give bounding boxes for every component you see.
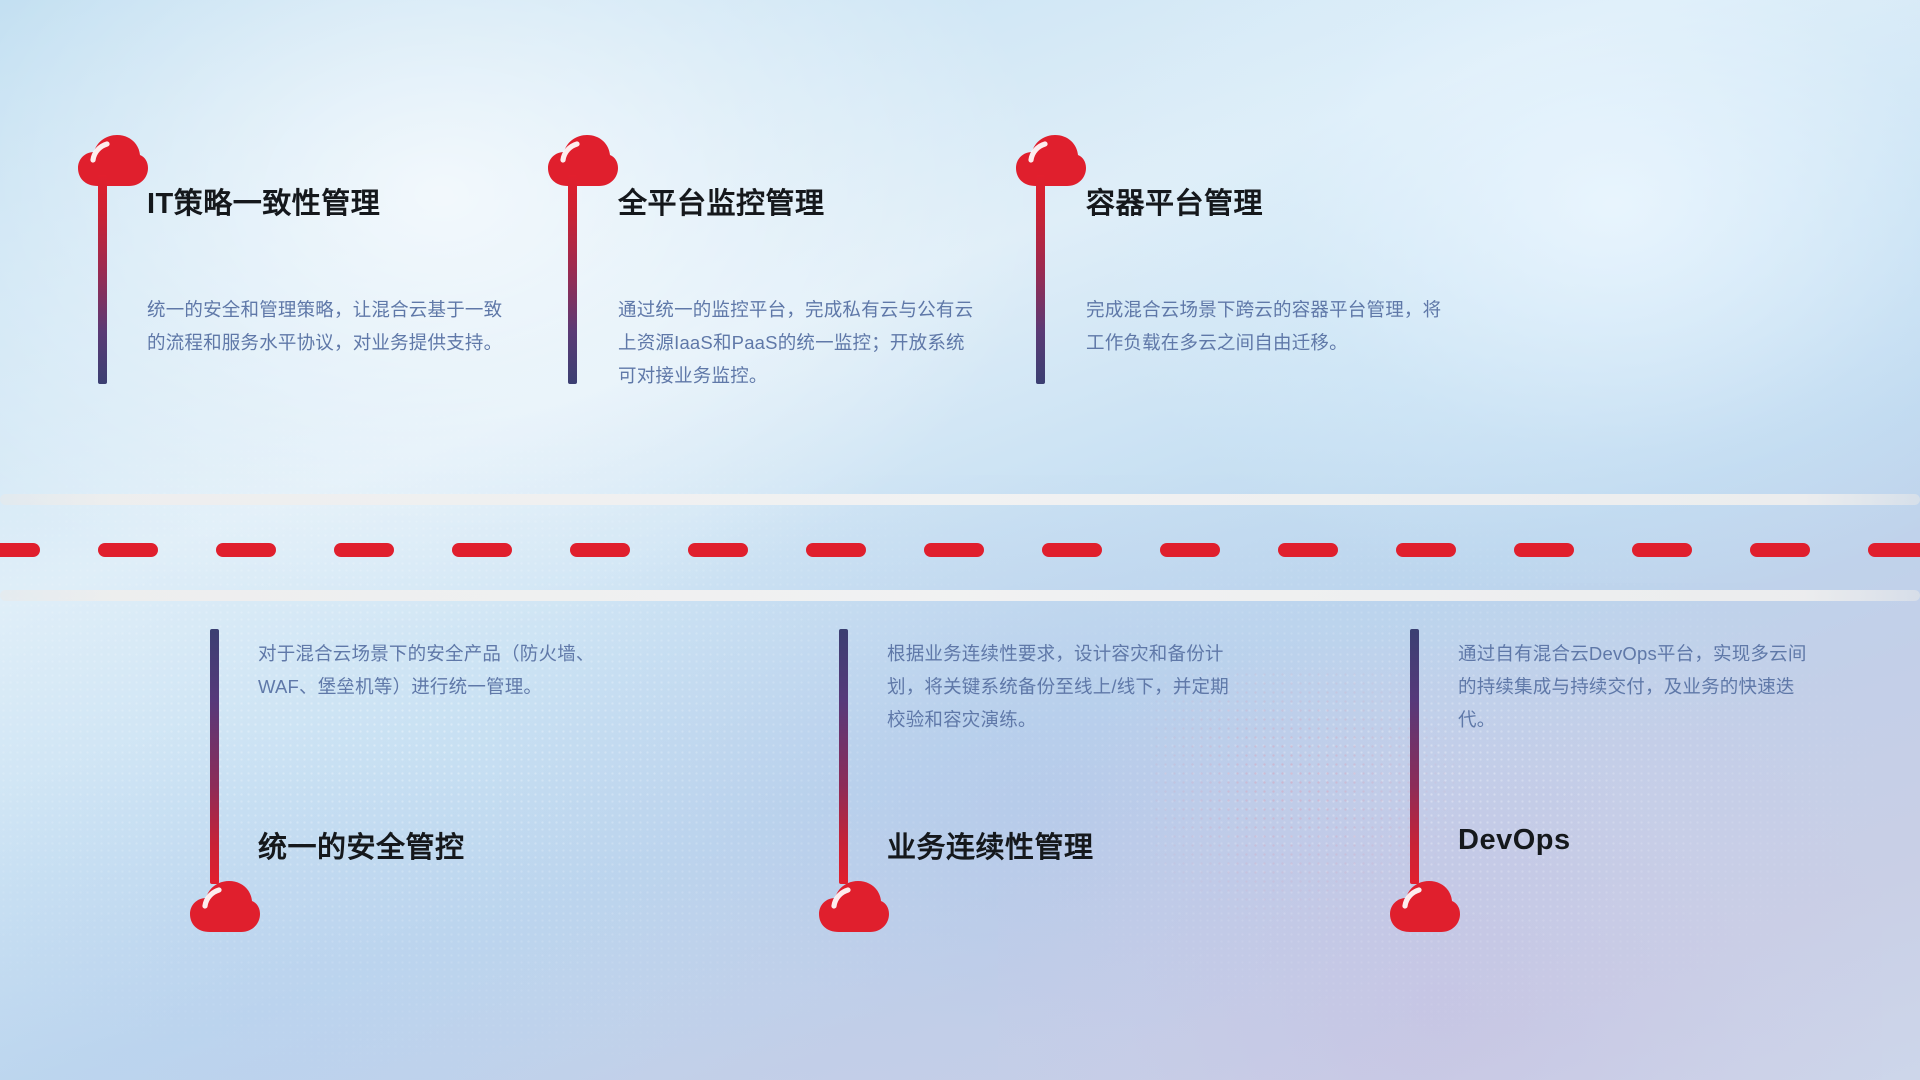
cloud-icon [1388,879,1462,935]
road-dash-segment [216,543,276,557]
road-dash-segment [806,543,866,557]
cloud-icon [817,879,891,935]
road-dash-segment [688,543,748,557]
pin-stem [1410,629,1419,884]
background-bokeh-dots [0,0,1920,1080]
road-dash-segment [1396,543,1456,557]
pin-stem [98,175,107,384]
pin-description: 根据业务连续性要求，设计容灾和备份计划，将关键系统备份至线上/线下，并定期校验和… [887,637,1247,736]
road-dash-segment [1632,543,1692,557]
road-dash-segment [570,543,630,557]
pin-description: 统一的安全和管理策略，让混合云基于一致的流程和服务水平协议，对业务提供支持。 [147,293,507,359]
cloud-icon [1014,133,1088,189]
pin-description: 对于混合云场景下的安全产品（防火墙、WAF、堡垒机等）进行统一管理。 [258,637,618,703]
cloud-icon [546,133,620,189]
pin-description: 完成混合云场景下跨云的容器平台管理，将工作负载在多云之间自由迁移。 [1086,293,1446,359]
road-edge-bottom-line [0,590,1920,601]
infographic-canvas: IT策略一致性管理 统一的安全和管理策略，让混合云基于一致的流程和服务水平协议，… [0,0,1920,1080]
pin-title: 容器平台管理 [1086,180,1263,222]
road-dash-segment [1750,543,1810,557]
pin-description: 通过自有混合云DevOps平台，实现多云间的持续集成与持续交付，及业务的快速迭代… [1458,637,1810,736]
road-center-dashed-line [0,543,1920,557]
pin-title: IT策略一致性管理 [147,180,380,222]
road-edge-top-line [0,494,1920,505]
pin-title: 统一的安全管控 [258,824,465,866]
pin-title: DevOps [1458,824,1571,857]
pin-title: 全平台监控管理 [618,180,825,222]
road-dash-segment [1278,543,1338,557]
road-dash-segment [1042,543,1102,557]
road-dash-segment [1514,543,1574,557]
pin-stem [839,629,848,884]
road-dash-segment [924,543,984,557]
road-dash-segment [0,543,40,557]
road-dash-segment [1868,543,1920,557]
pin-title: 业务连续性管理 [887,824,1094,866]
pin-stem [1036,175,1045,384]
road-dash-pattern [0,543,1920,557]
pin-stem [210,629,219,884]
pin-description: 通过统一的监控平台，完成私有云与公有云上资源IaaS和PaaS的统一监控；开放系… [618,293,978,392]
cloud-icon [76,133,150,189]
road-dash-segment [98,543,158,557]
road-dash-segment [452,543,512,557]
cloud-icon [188,879,262,935]
road-dash-segment [1160,543,1220,557]
road-dash-segment [334,543,394,557]
pin-stem [568,175,577,384]
